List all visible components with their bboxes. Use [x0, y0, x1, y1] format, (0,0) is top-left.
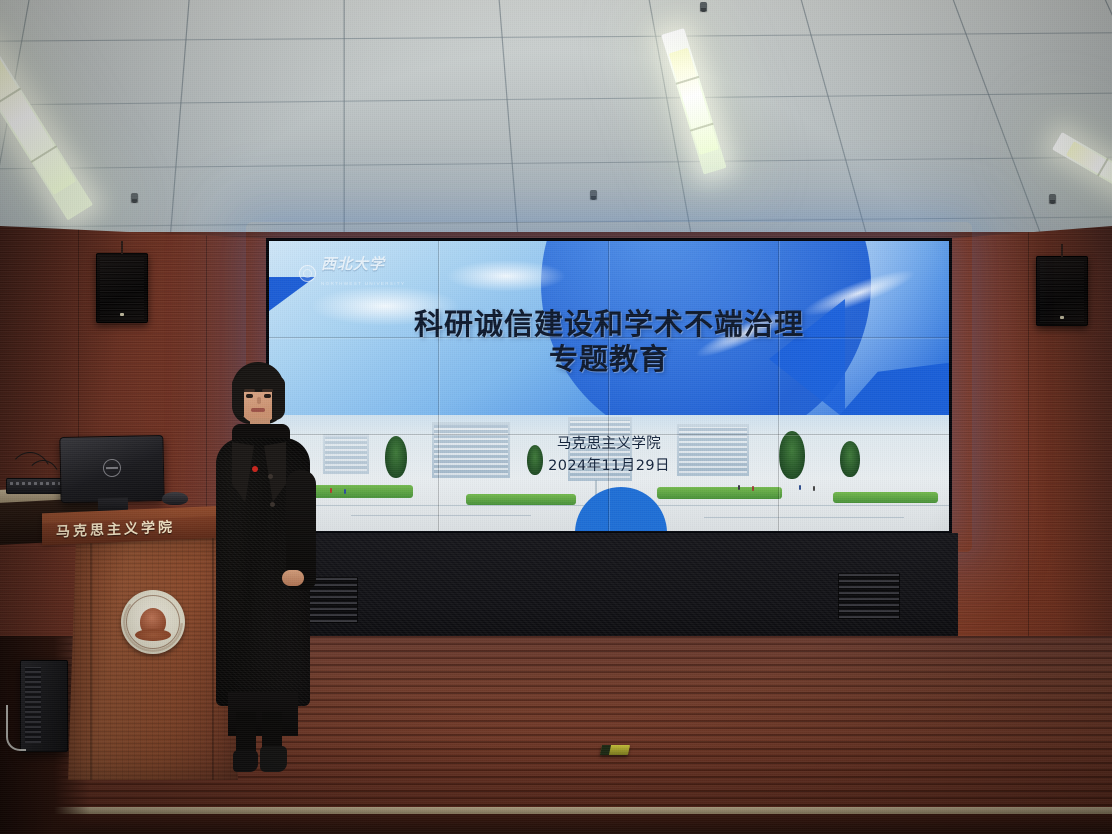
videowall-bezel-seam: [269, 435, 949, 436]
video-wall-display[interactable]: 西北大学 NORTHWEST UNIVERSITY 科研诚信建设和学术不端治理 …: [266, 238, 952, 534]
presenter-hand: [282, 570, 304, 586]
university-name-en: NORTHWEST UNIVERSITY: [321, 281, 405, 286]
stage-edge-strip: [0, 807, 1112, 814]
sprinkler-head-icon: [131, 193, 138, 202]
marx-portrait-emblem-icon: [121, 590, 185, 654]
computer-mouse-icon: [162, 492, 188, 505]
under-screen-panel: [258, 533, 958, 638]
university-name-cn: 西北大学: [321, 255, 385, 273]
dell-monitor-icon: [59, 435, 164, 503]
lecture-hall-scene: 西北大学 NORTHWEST UNIVERSITY 科研诚信建设和学术不端治理 …: [0, 0, 1112, 834]
lapel-pin: [252, 466, 258, 472]
university-logo: 西北大学 NORTHWEST UNIVERSITY: [299, 257, 405, 289]
stage-front-skirt: [0, 814, 1112, 834]
power-cable: [6, 705, 26, 751]
university-seal-icon: [299, 265, 316, 282]
air-vent-grille-icon-right: [838, 573, 900, 619]
sprinkler-head-icon: [700, 2, 707, 11]
ceiling: [0, 0, 1112, 252]
sprinkler-head-icon: [590, 190, 597, 199]
ceiling-tile-grid: [0, 0, 1112, 252]
desktop-tower-icon: [20, 660, 68, 752]
videowall-bezel-seam: [269, 338, 949, 339]
wall-speaker-icon-left: [96, 253, 148, 323]
presentation-slide: 西北大学 NORTHWEST UNIVERSITY 科研诚信建设和学术不端治理 …: [269, 241, 949, 531]
rack-equipment-box: [6, 478, 64, 494]
videowall-bezel-seam: [609, 241, 610, 531]
slide-accent-semicircle: [575, 487, 667, 531]
floor-object: [600, 745, 630, 755]
dell-logo-icon: [103, 459, 121, 477]
sprinkler-head-icon: [1049, 194, 1056, 203]
presenter: [206, 362, 324, 772]
videowall-bezel-seam: [439, 241, 440, 531]
videowall-bezel-seam: [779, 241, 780, 531]
wall-speaker-icon-right: [1036, 256, 1088, 326]
